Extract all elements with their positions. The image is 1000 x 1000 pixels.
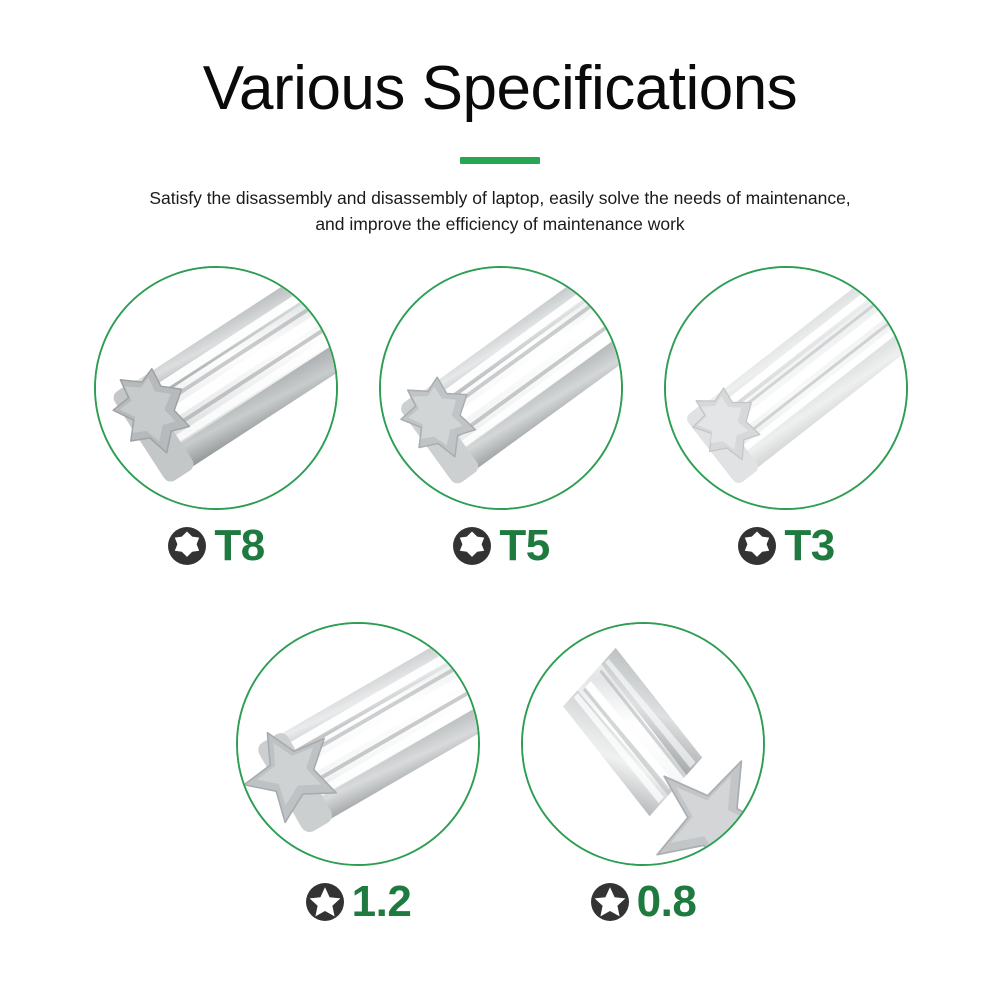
page-title: Various Specifications — [0, 0, 1000, 120]
pentalobe-5-point-star-icon — [305, 882, 345, 922]
header: Various Specifications Satisfy the disas… — [0, 0, 1000, 238]
spec-label-t5: T5 — [379, 524, 623, 568]
page-subtitle: Satisfy the disassembly and disassembly … — [85, 186, 915, 238]
spec-image-circle — [94, 266, 338, 510]
spec-image-circle — [664, 266, 908, 510]
spec-label-text: T8 — [214, 524, 264, 568]
accent-divider-bar — [460, 157, 540, 164]
spec-label-t8: T8 — [94, 524, 338, 568]
screwdriver-bit-torx-t8-photo — [96, 268, 336, 508]
screwdriver-bit-pentalobe-1-2-photo — [238, 624, 478, 864]
spec-label-text: 0.8 — [637, 880, 697, 924]
screwdriver-bit-torx-t3-photo — [666, 268, 906, 508]
spec-image-circle — [521, 622, 765, 866]
spec-label-1-2: 1.2 — [236, 880, 480, 924]
screwdriver-bit-torx-t5-photo — [381, 268, 621, 508]
spec-label-text: T3 — [784, 524, 834, 568]
spec-label-0-8: 0.8 — [521, 880, 765, 924]
pentalobe-5-point-star-icon — [590, 882, 630, 922]
screwdriver-bit-pentalobe-0-8-photo — [523, 624, 763, 864]
subtitle-line-1: Satisfy the disassembly and disassembly … — [85, 186, 915, 212]
spec-label-t3: T3 — [664, 524, 908, 568]
spec-image-circle — [236, 622, 480, 866]
torx-6-point-star-icon — [452, 526, 492, 566]
subtitle-line-2: and improve the efficiency of maintenanc… — [85, 212, 915, 238]
torx-6-point-star-icon — [167, 526, 207, 566]
spec-label-text: T5 — [499, 524, 549, 568]
spec-label-text: 1.2 — [352, 880, 412, 924]
spec-image-circle — [379, 266, 623, 510]
torx-6-point-star-icon — [737, 526, 777, 566]
